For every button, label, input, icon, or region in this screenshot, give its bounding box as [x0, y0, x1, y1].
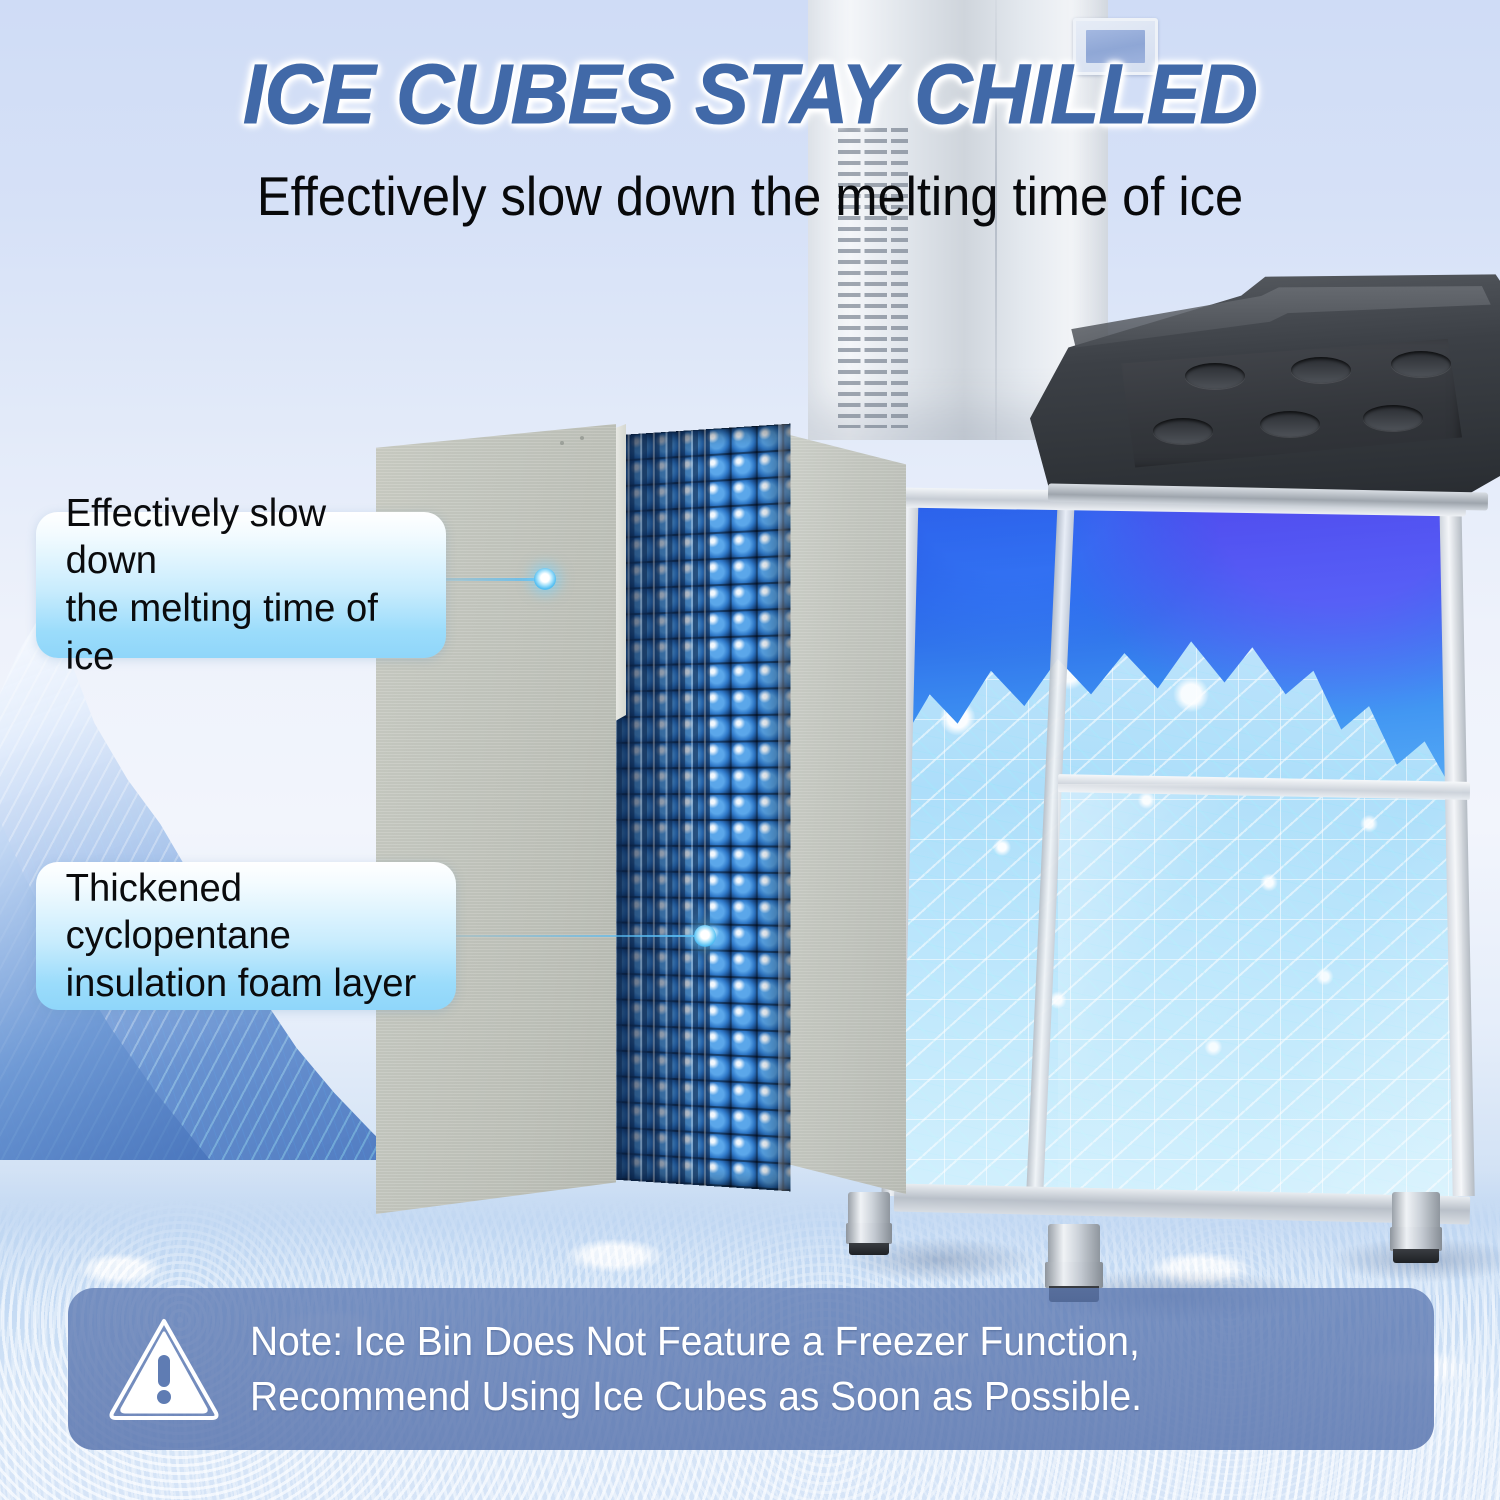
door-screw-1 [560, 441, 564, 445]
warning-triangle-icon [108, 1317, 220, 1421]
adjustable-leg-right [1392, 1192, 1440, 1262]
note-text: Note: Ice Bin Does Not Feature a Freezer… [250, 1314, 1142, 1424]
lid-indent-1 [1185, 363, 1245, 389]
callout-insulation-foam-line2: insulation foam layer [66, 960, 427, 1008]
bin-left-wall-texture [786, 434, 906, 1194]
callout-melting-time-line1: Effectively slow down [66, 490, 417, 585]
page-subheadline: Effectively slow down the melting time o… [60, 168, 1440, 226]
lid-indent-3 [1391, 351, 1451, 377]
callout-melting-time: Effectively slow down the melting time o… [36, 512, 446, 658]
note-line1: Note: Ice Bin Does Not Feature a Freezer… [250, 1314, 1142, 1369]
leg-foot-pad [1393, 1249, 1439, 1263]
callout-melting-time-line2: the melting time of ice [66, 585, 417, 680]
lid-indent-6 [1363, 405, 1423, 431]
black-hinged-lid[interactable] [1030, 272, 1500, 508]
lid-indentations [1107, 333, 1462, 470]
callout-leader-line-melting-time [430, 578, 550, 581]
callout-leader-dot-insulation-foam [694, 925, 716, 947]
callout-leader-dot-melting-time [534, 568, 556, 590]
callout-insulation-foam: Thickened cyclopentane insulation foam l… [36, 862, 456, 1010]
note-line2: Recommend Using Ice Cubes as Soon as Pos… [250, 1369, 1142, 1424]
leg-hex-nut [1045, 1262, 1102, 1288]
note-banner: Note: Ice Bin Does Not Feature a Freezer… [68, 1288, 1434, 1450]
foam-right-highlight [778, 424, 790, 1192]
bin-interior [902, 500, 1458, 1200]
lid-indent-4 [1153, 418, 1213, 444]
leg-hex-nut [846, 1223, 892, 1244]
callout-melting-time-text: Effectively slow down the melting time o… [66, 490, 417, 680]
leg-foot-pad [849, 1243, 889, 1255]
door-screw-2 [580, 436, 584, 440]
leg-hex-nut [1390, 1227, 1443, 1251]
callout-leader-line-insulation-foam [448, 935, 706, 937]
page-headline: ICE CUBES STAY CHILLED [30, 52, 1470, 136]
product-infographic: ICE CUBES STAY CHILLED Effectively slow … [0, 0, 1500, 1500]
lid-indent-2 [1291, 357, 1351, 383]
lid-indent-5 [1260, 411, 1320, 437]
callout-insulation-foam-text: Thickened cyclopentane insulation foam l… [66, 865, 427, 1008]
ice-storage-bin [890, 448, 1470, 1208]
cyclopentane-foam-insulation-layer [603, 424, 791, 1192]
adjustable-leg-left [848, 1192, 890, 1254]
callout-insulation-foam-line1: Thickened cyclopentane [66, 865, 427, 960]
